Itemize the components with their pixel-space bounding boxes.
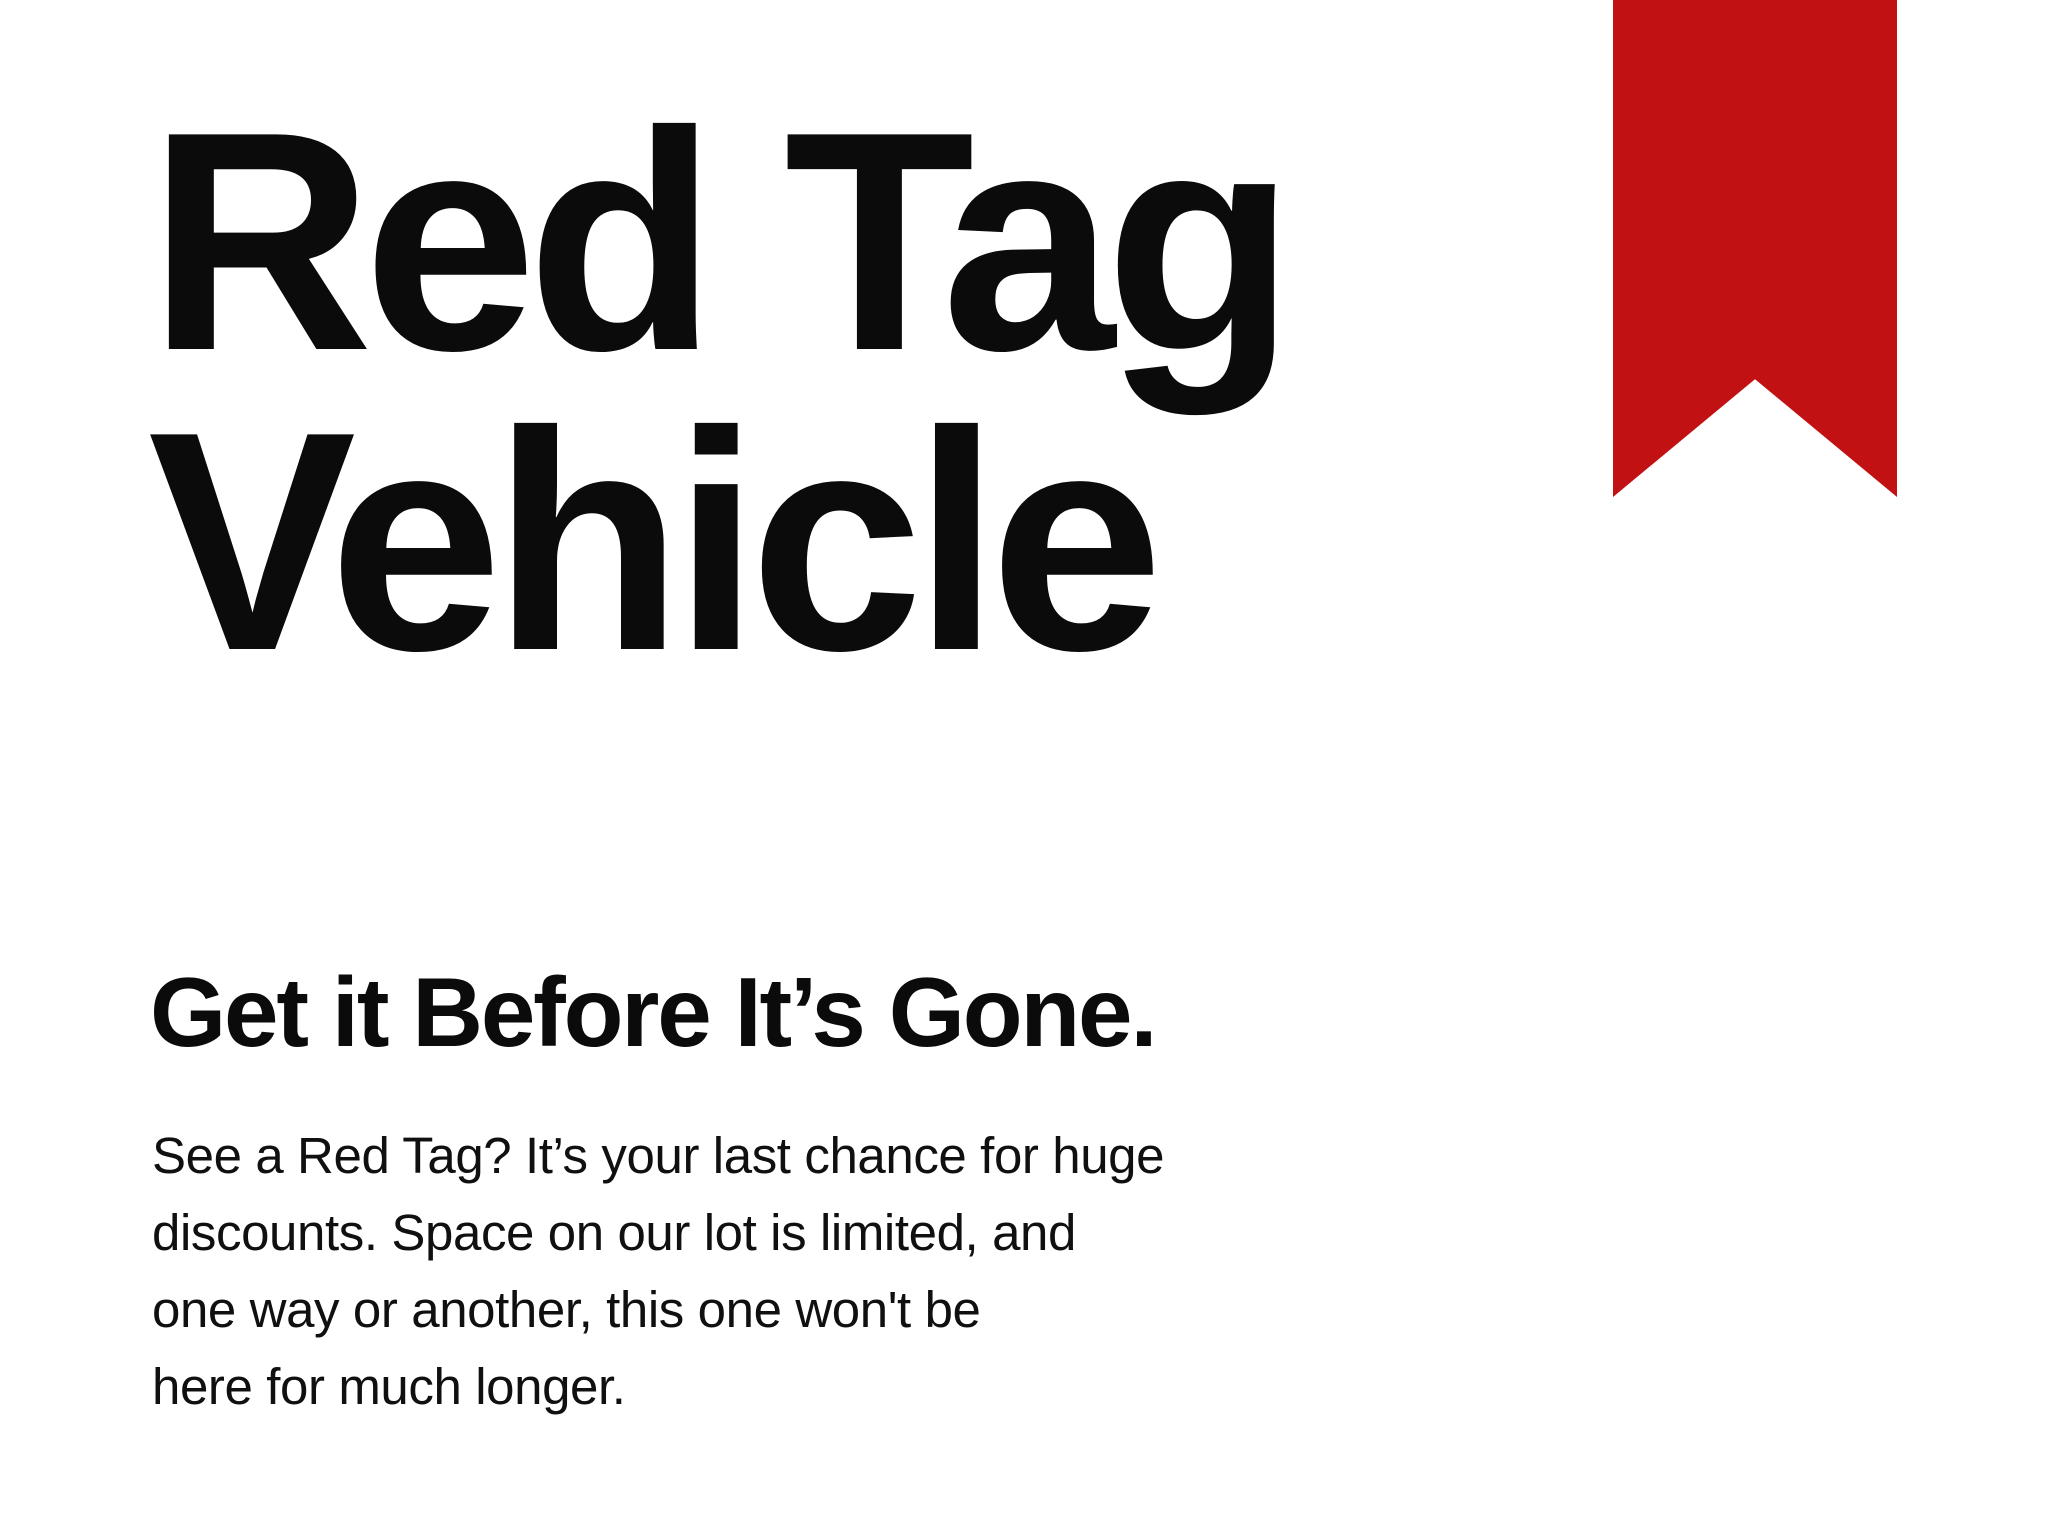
red-tag-ribbon-icon bbox=[1613, 0, 1897, 497]
subheadline: Get it Before It’s Gone. bbox=[150, 960, 1155, 1064]
page-title: Red Tag Vehicle bbox=[148, 92, 1448, 692]
red-tag-promo-banner: Red Tag Vehicle Get it Before It’s Gone.… bbox=[0, 0, 2048, 1536]
body-copy: See a Red Tag? It’s your last chance for… bbox=[152, 1117, 1332, 1425]
